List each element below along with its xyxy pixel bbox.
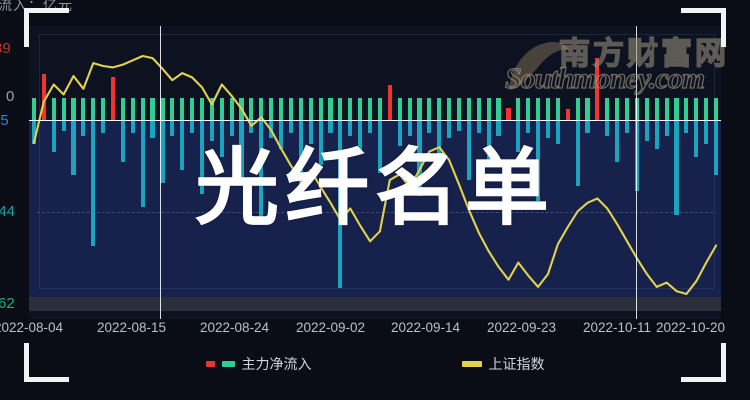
x-axis: 2022-08-042022-08-152022-08-242022-09-02…	[0, 320, 750, 346]
x-axis-tick-3: 2022-09-02	[296, 320, 365, 335]
x-axis-tick-2: 2022-08-24	[200, 320, 269, 335]
zero-baseline	[29, 120, 721, 121]
overlay-title: 光纤名单	[0, 146, 750, 230]
legend-item-net-inflow[interactable]: 主力净流入	[206, 354, 312, 374]
x-axis-tick-7: 2022-10-20	[656, 320, 725, 335]
chart-screenshot: 流入：亿元 南方财富网 Southmoney.com	[0, 0, 750, 400]
y-axis-label-4: 62	[0, 295, 15, 312]
y-axis-label-0: 39	[0, 40, 11, 57]
x-axis-tick-1: 2022-08-15	[97, 320, 166, 335]
y-axis-label-2: 25	[0, 112, 9, 129]
legend-label-sse-index: 上证指数	[489, 354, 545, 374]
legend-swatch-red-icon	[206, 361, 215, 367]
legend-label-net-inflow: 主力净流入	[242, 354, 312, 374]
legend-item-sse-index[interactable]: 上证指数	[462, 354, 545, 374]
x-axis-tick-4: 2022-09-14	[391, 320, 460, 335]
legend: 主力净流入 上证指数	[0, 352, 750, 376]
header-strip: 流入：亿元	[0, 0, 750, 22]
legend-swatch-yellow-icon	[462, 361, 482, 367]
x-axis-tick-5: 2022-09-23	[487, 320, 556, 335]
x-axis-tick-0: 2022-08-04	[0, 320, 63, 335]
bottom-letterbox	[0, 386, 750, 400]
header-cutoff-text: 流入：亿元	[0, 0, 73, 15]
x-axis-tick-6: 2022-10-11	[583, 320, 651, 335]
legend-swatch-green-icon	[222, 361, 235, 367]
y-axis-label-1: 0	[6, 88, 14, 105]
